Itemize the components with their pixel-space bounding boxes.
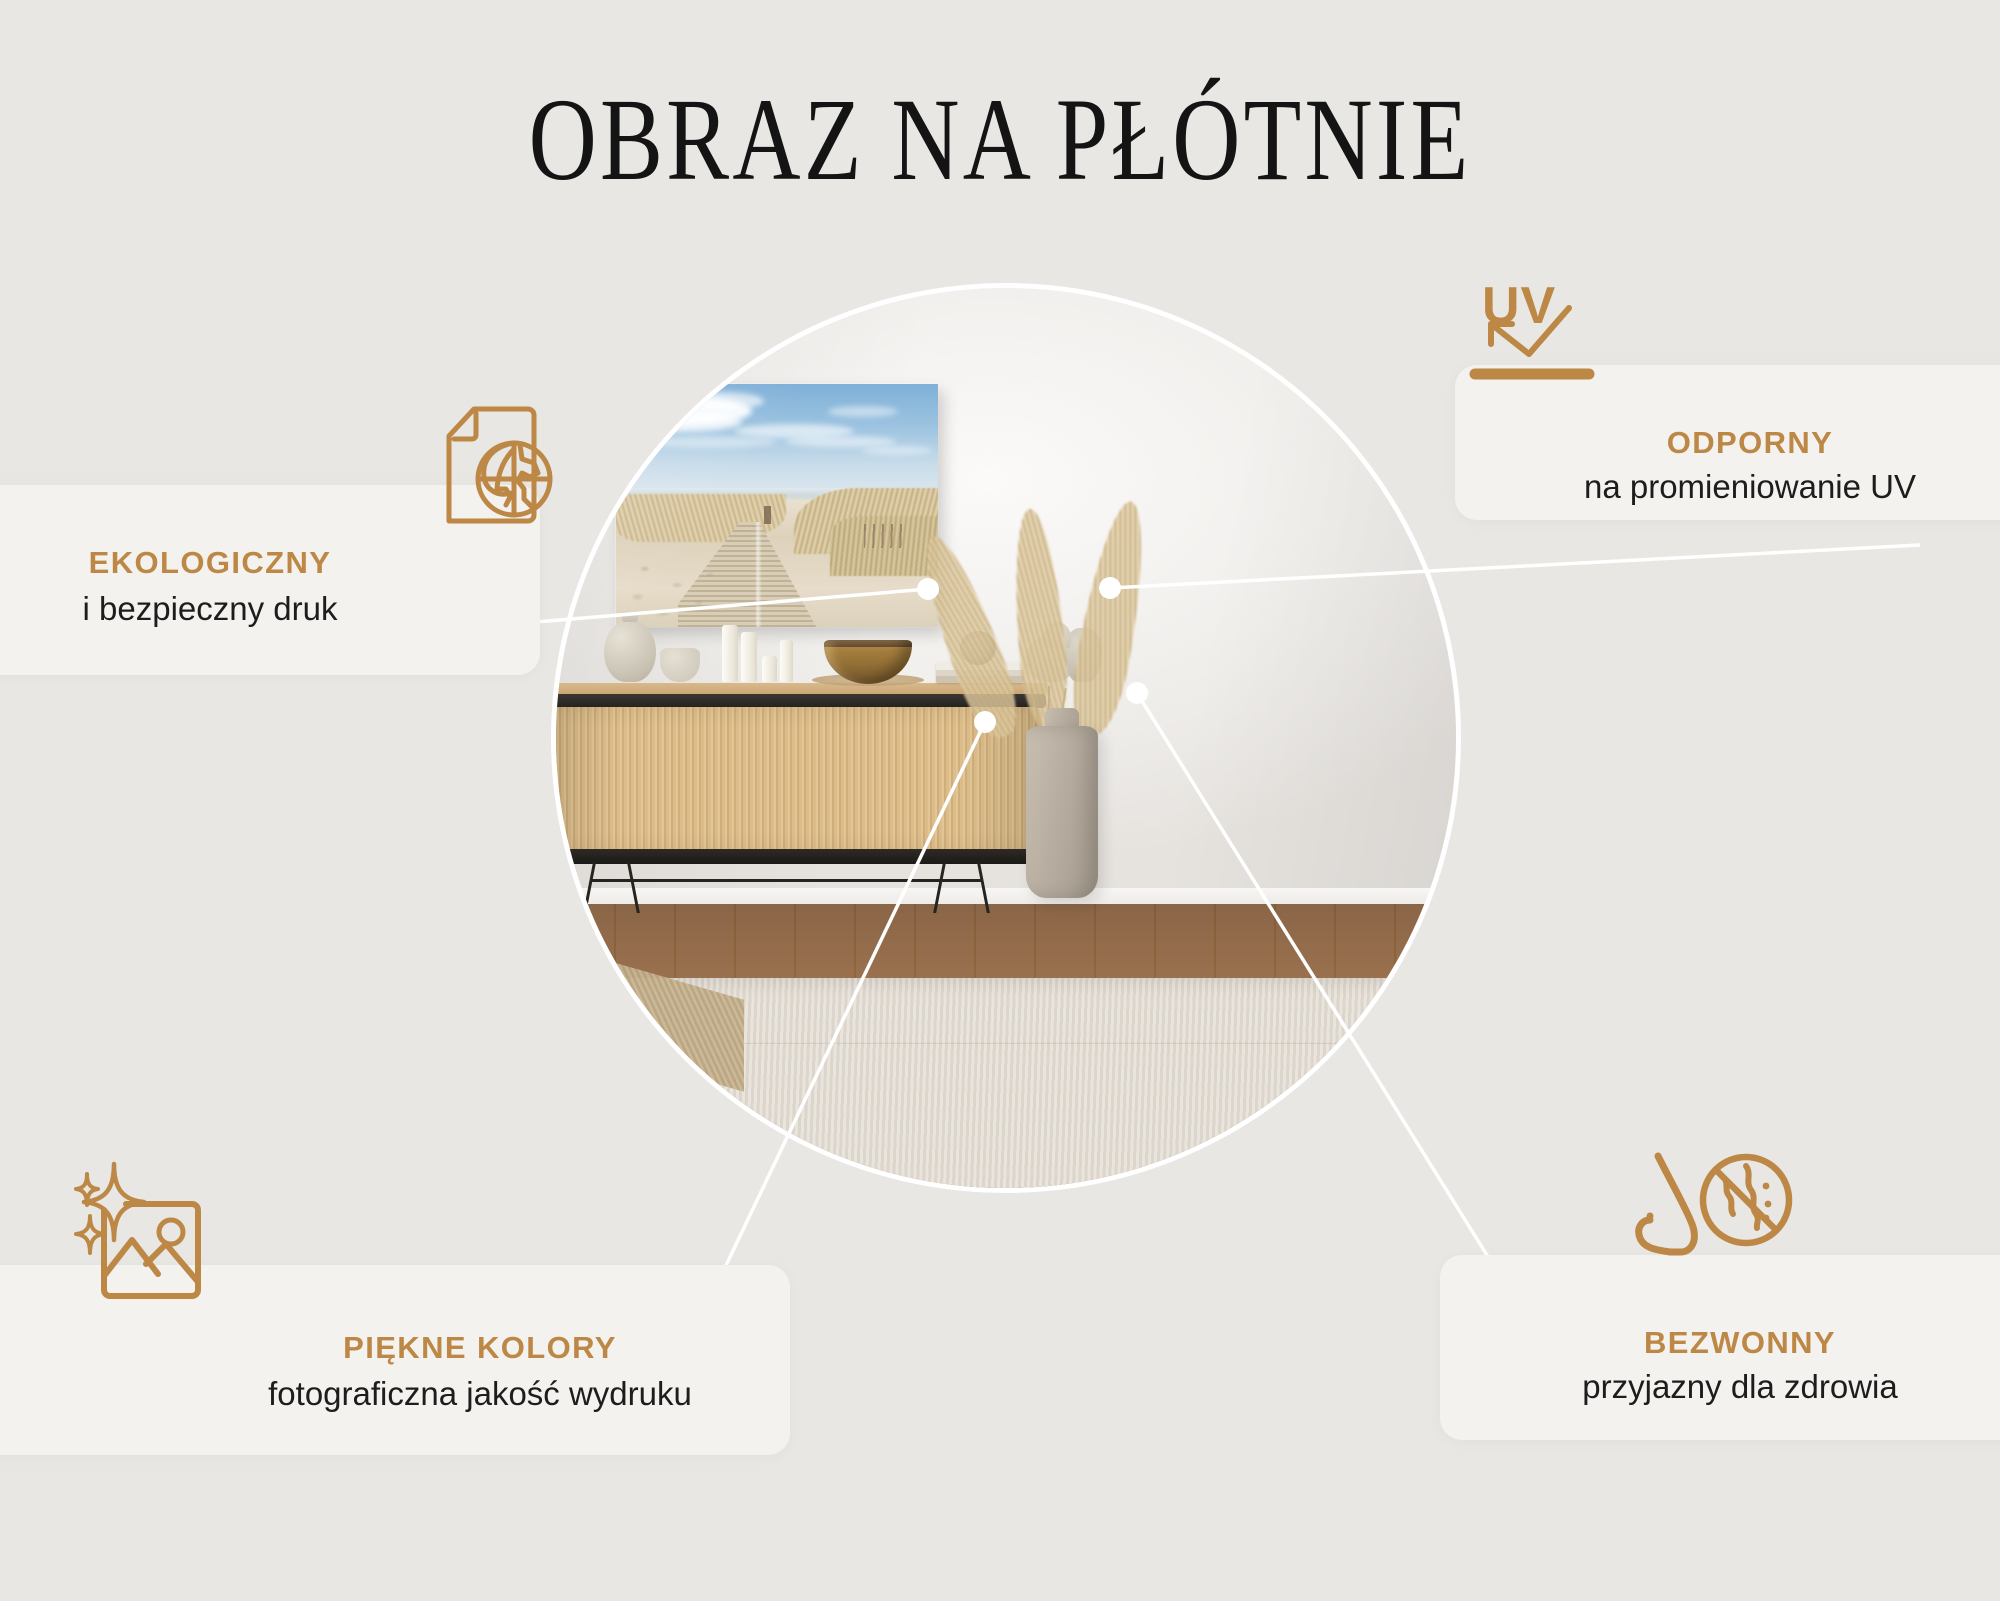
feature-subtitle-piekne-kolory: fotograficzna jakość wydruku — [200, 1375, 760, 1413]
room-scene — [556, 288, 1456, 1188]
canvas-gloss — [616, 384, 938, 627]
feature-title-piekne-kolory: PIĘKNE KOLORY — [200, 1330, 760, 1366]
uv-reflection-icon — [1465, 282, 1595, 402]
nose-no-odor-icon — [1628, 1138, 1793, 1288]
feature-subtitle-bezwonny: przyjazny dla zdrowia — [1490, 1368, 1990, 1406]
ceramic-vase-large — [604, 620, 656, 682]
pillar-candle — [722, 625, 738, 682]
feature-subtitle-odporny: na promieniowanie UV — [1500, 468, 2000, 506]
sideboard-base — [556, 849, 1046, 864]
room-scene-circle — [556, 288, 1456, 1188]
canvas-artwork — [616, 384, 938, 627]
eco-document-globe-leaf-icon — [418, 393, 553, 533]
feature-title-bezwonny: BEZWONNY — [1490, 1325, 1990, 1361]
feature-title-ekologiczny: EKOLOGICZNY — [0, 545, 420, 581]
feature-subtitle-ekologiczny: i bezpieczny druk — [0, 590, 420, 628]
infographic-canvas: OBRAZ NA PŁÓTNIE — [0, 0, 2000, 1601]
pillar-candle — [780, 640, 793, 682]
feature-title-odporny: ODPORNY — [1500, 425, 2000, 461]
pillar-candle — [762, 656, 777, 682]
sideboard-leg-crossbar — [590, 879, 982, 882]
floor-vase — [1026, 726, 1098, 898]
pillar-candle — [741, 632, 757, 682]
sideboard-shading — [556, 707, 1042, 852]
photo-sparkle-icon — [70, 1158, 215, 1308]
ceramic-vase-neck — [622, 610, 638, 622]
page-title: OBRAZ NA PŁÓTNIE — [200, 78, 1800, 202]
